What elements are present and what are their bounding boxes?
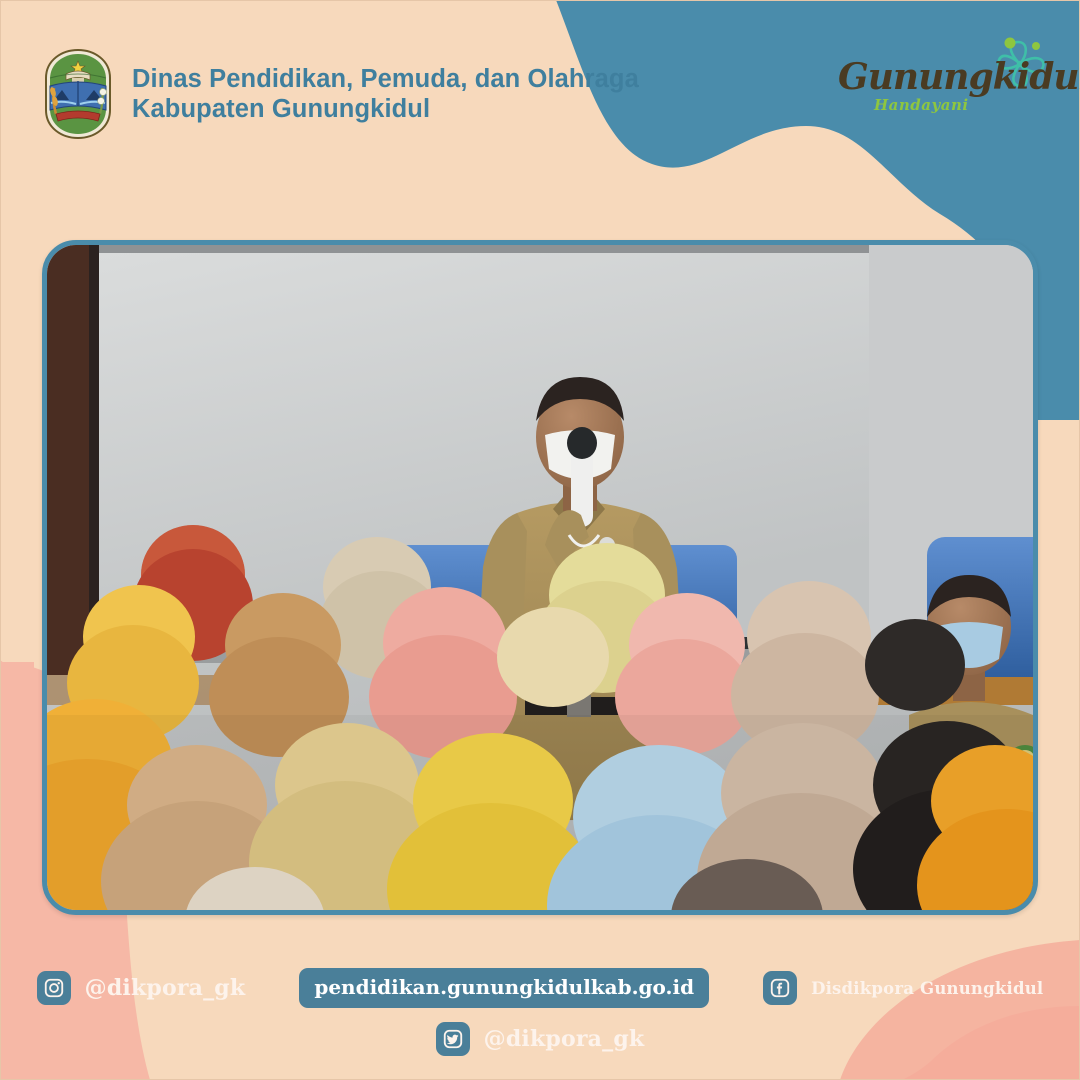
footer-row-primary: @dikpora_gk pendidikan.gunungkidulkab.go… (0, 968, 1080, 1008)
gunungkidul-brand: Gunungkidul Handayani (838, 38, 1058, 130)
footer-row-secondary: @dikpora_gk (0, 1022, 1080, 1056)
brand-tagline: Handayani (874, 96, 969, 114)
instagram-handle[interactable]: @dikpora_gk (85, 975, 246, 1001)
coat-of-arms-icon (42, 48, 114, 140)
footer-social-bar: @dikpora_gk pendidikan.gunungkidulkab.go… (0, 968, 1080, 1056)
event-photo-frame (42, 240, 1038, 915)
facebook-page-name[interactable]: Disdikpora Gunungkidul (811, 979, 1043, 998)
twitter-handle[interactable]: @dikpora_gk (484, 1026, 645, 1052)
instagram-icon[interactable] (37, 971, 71, 1005)
header-title-line1: Dinas Pendidikan, Pemuda, dan Olahraga (132, 64, 639, 94)
header-title-line2: Kabupaten Gunungkidul (132, 94, 639, 124)
header: Dinas Pendidikan, Pemuda, dan Olahraga K… (42, 48, 639, 140)
event-photo (47, 245, 1033, 910)
facebook-icon[interactable] (763, 971, 797, 1005)
twitter-icon[interactable] (436, 1022, 470, 1056)
website-pill[interactable]: pendidikan.gunungkidulkab.go.id (299, 968, 709, 1008)
poster-canvas: Dinas Pendidikan, Pemuda, dan Olahraga K… (0, 0, 1080, 1080)
brand-wordmark: Gunungkidul (838, 56, 1038, 98)
